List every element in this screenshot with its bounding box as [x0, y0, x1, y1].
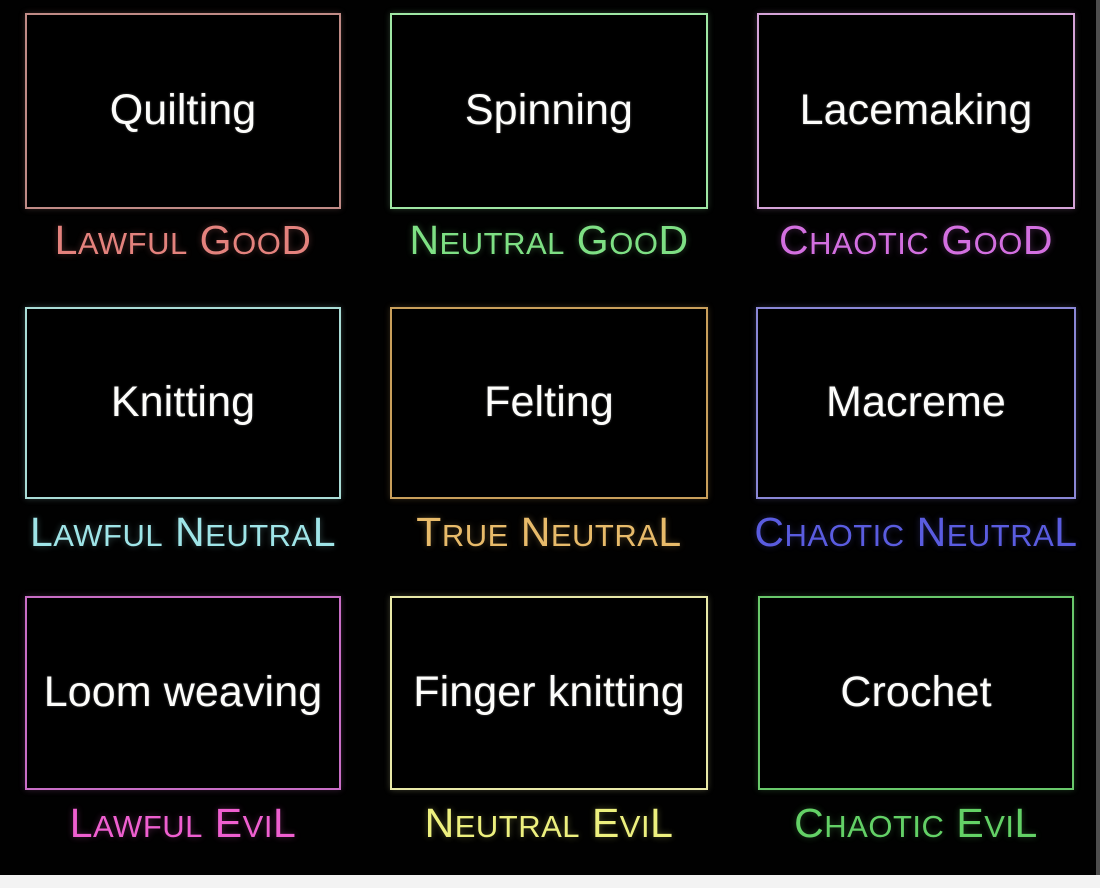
alignment-label-chaotic-good: CHAOTIC GOOD [779, 220, 1053, 261]
craft-box-loom-weaving: Loom weaving [25, 596, 341, 790]
alignment-cell-chaotic-evil: CrochetCHAOTIC EVIL [732, 574, 1100, 875]
alignment-cell-neutral-evil: Finger knittingNEUTRAL EVIL [366, 574, 732, 875]
alignment-cell-lawful-neutral: KnittingLAWFUL NEUTRAL [0, 287, 366, 574]
alignment-cell-chaotic-good: LacemakingCHAOTIC GOOD [732, 0, 1100, 287]
craft-name: Macreme [820, 378, 1012, 428]
craft-name: Finger knitting [407, 668, 691, 718]
craft-box-lacemaking: Lacemaking [757, 13, 1075, 209]
craft-name: Lacemaking [794, 86, 1039, 136]
alignment-label-chaotic-neutral: CHAOTIC NEUTRAL [754, 512, 1077, 553]
alignment-label-lawful-neutral: LAWFUL NEUTRAL [30, 512, 336, 553]
craft-box-spinning: Spinning [390, 13, 708, 209]
craft-box-crochet: Crochet [758, 596, 1074, 790]
alignment-cell-true-neutral: FeltingTRUE NEUTRAL [366, 287, 732, 574]
alignment-chart-grid: QuiltingLAWFUL GOODSpinningNEUTRAL GOODL… [0, 0, 1100, 875]
alignment-label-neutral-evil: NEUTRAL EVIL [425, 803, 674, 844]
craft-box-knitting: Knitting [25, 307, 341, 499]
craft-name: Quilting [104, 86, 263, 136]
craft-name: Knitting [105, 378, 261, 428]
alignment-label-neutral-good: NEUTRAL GOOD [409, 220, 688, 261]
craft-name: Spinning [459, 86, 639, 136]
craft-name: Loom weaving [38, 668, 328, 718]
alignment-label-lawful-evil: LAWFUL EVIL [70, 803, 297, 844]
alignment-label-lawful-good: LAWFUL GOOD [55, 220, 312, 261]
alignment-cell-lawful-good: QuiltingLAWFUL GOOD [0, 0, 366, 287]
craft-box-quilting: Quilting [25, 13, 341, 209]
alignment-cell-lawful-evil: Loom weavingLAWFUL EVIL [0, 574, 366, 875]
craft-box-felting: Felting [390, 307, 708, 499]
alignment-label-chaotic-evil: CHAOTIC EVIL [794, 803, 1038, 844]
craft-name: Felting [478, 378, 620, 428]
craft-box-macreme: Macreme [756, 307, 1076, 499]
craft-name: Crochet [834, 668, 997, 718]
alignment-cell-chaotic-neutral: MacremeCHAOTIC NEUTRAL [732, 287, 1100, 574]
capture-right-seam [1096, 0, 1100, 875]
craft-box-finger-knitting: Finger knitting [390, 596, 708, 790]
capture-bottom-band [0, 875, 1100, 888]
alignment-label-true-neutral: TRUE NEUTRAL [416, 512, 681, 553]
alignment-cell-neutral-good: SpinningNEUTRAL GOOD [366, 0, 732, 287]
